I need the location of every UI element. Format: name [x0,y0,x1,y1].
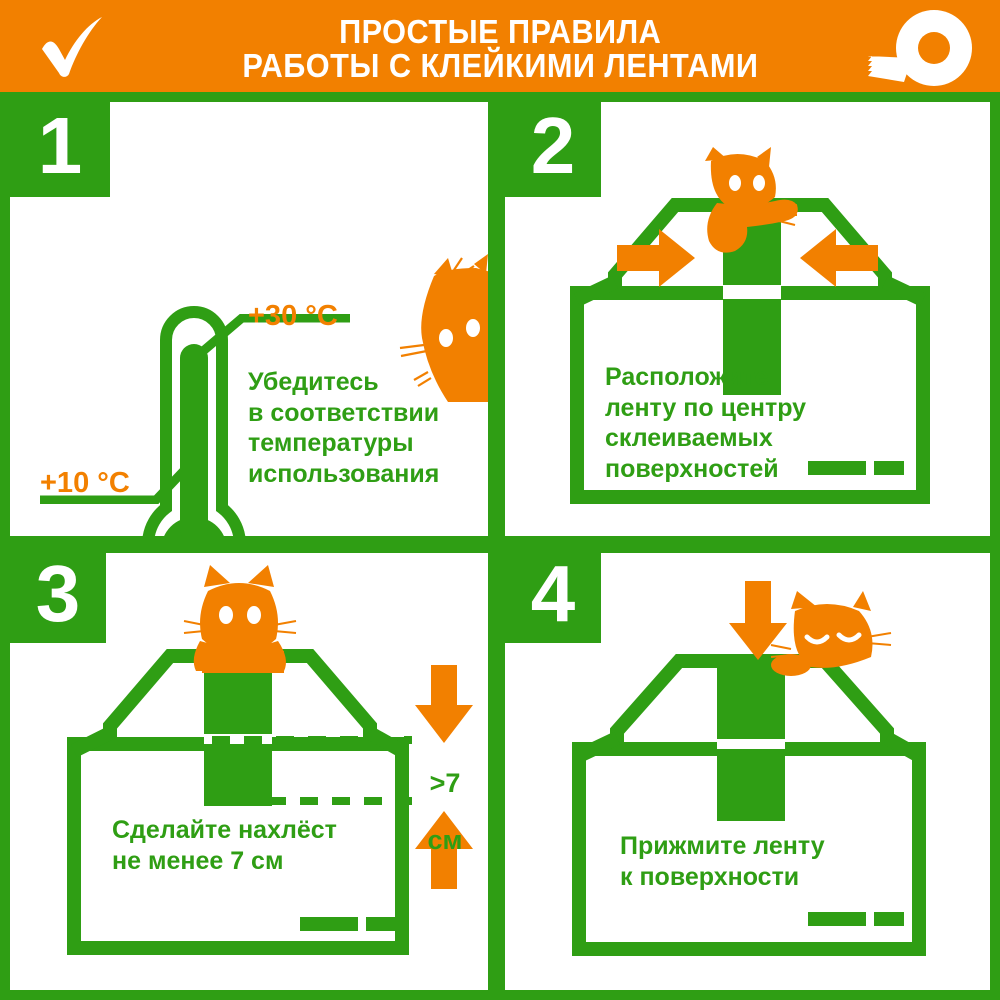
step-caption-1: Убедитесь в соответствии температуры исп… [248,367,439,489]
measure-line-2: см [410,826,480,854]
infographic-poster: ПРОСТЫЕ ПРАВИЛА РАБОТЫ С КЛЕЙКИМИ ЛЕНТАМ… [0,0,1000,1000]
step-number-badge-1: 1 [10,102,110,197]
step-caption-4: Прижмите ленту к поверхности [620,831,825,892]
step-number-badge-4: 4 [505,553,601,643]
cat-on-box-icon [697,147,817,257]
step-number-badge-3: 3 [10,553,106,643]
step-panel-1: 1 +30 °C +10 °C [10,102,488,536]
checkmark-icon [38,16,108,78]
page-title: ПРОСТЫЕ ПРАВИЛА РАБОТЫ С КЛЕЙКИМИ ЛЕНТАМ… [150,16,850,82]
arrow-down-icon [413,665,475,745]
title-line-1: ПРОСТЫЕ ПРАВИЛА [339,15,661,49]
step-panel-3: 3 >7 см [10,553,488,990]
arrow-right-icon [617,227,695,289]
step-number-badge-2: 2 [505,102,601,197]
temperature-low-label: +10 °C [40,467,130,500]
step-panel-2: 2 [505,102,990,536]
tape-roll-icon [866,8,986,90]
thermometer-icon [128,300,258,536]
header-bar: ПРОСТЫЕ ПРАВИЛА РАБОТЫ С КЛЕЙКИМИ ЛЕНТАМ… [0,0,1000,92]
measure-line-1: >7 [410,769,480,797]
step-panel-4: 4 Прижмите [505,553,990,990]
shipping-label-bars [808,908,908,930]
shipping-label-bars [300,913,400,935]
cat-on-box-front-icon [182,563,302,683]
cat-sleepy-on-box-icon [767,591,897,681]
shipping-label-bars [808,457,908,479]
overlap-measure-label: >7 см [410,741,480,883]
title-line-2: РАБОТЫ С КЛЕЙКИМИ ЛЕНТАМИ [242,49,758,83]
step-caption-3: Сделайте нахлёст не менее 7 см [112,815,337,876]
temperature-high-label: +30 °C [248,300,338,333]
step-caption-2: Расположите ленту по центру склеиваемых … [605,362,806,484]
